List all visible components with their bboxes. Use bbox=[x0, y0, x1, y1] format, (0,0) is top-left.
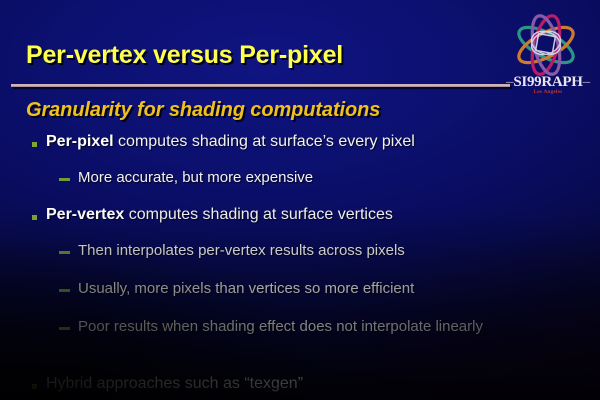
logo-city-label: Los Angeles bbox=[502, 90, 594, 95]
wordmark-text: SI99RAPH bbox=[513, 74, 582, 90]
siggraph-rings-icon bbox=[506, 12, 586, 78]
bullet-dash-icon bbox=[59, 251, 70, 254]
bullet-rest: computes shading at surface’s every pixe… bbox=[114, 133, 415, 150]
bullet-text: Then interpolates per-vertex results acr… bbox=[58, 240, 405, 261]
bullet-rest: Hybrid approaches such as “texgen” bbox=[46, 375, 303, 392]
bullet-item: Hybrid approaches such as “texgen” bbox=[0, 374, 600, 400]
bullet-item: Per-pixel computes shading at surface’s … bbox=[0, 132, 600, 167]
presentation-slide: Per-vertex versus Per-pixel Granularity … bbox=[0, 0, 600, 400]
bullet-text: Hybrid approaches such as “texgen” bbox=[30, 374, 303, 394]
bullet-item: Usually, more pixels than vertices so mo… bbox=[0, 278, 600, 316]
bullet-item: Poor results when shading effect does no… bbox=[0, 316, 600, 374]
bullet-dot-icon bbox=[32, 215, 37, 220]
bullet-rest: Then interpolates per-vertex results acr… bbox=[78, 242, 405, 259]
page-title: Per-vertex versus Per-pixel bbox=[26, 41, 343, 70]
title-divider bbox=[11, 84, 510, 87]
bullet-item: More accurate, but more expensive bbox=[0, 167, 600, 205]
bullet-text: Per-pixel computes shading at surface’s … bbox=[30, 132, 415, 152]
bullet-text: Usually, more pixels than vertices so mo… bbox=[58, 278, 414, 299]
bullet-lead: Per-pixel bbox=[46, 133, 114, 150]
siggraph-logo: –SI99RAPH– Los Angeles bbox=[502, 12, 594, 104]
bullet-rest: Poor results when shading effect does no… bbox=[78, 318, 483, 335]
slide-body: Per-pixel computes shading at surface’s … bbox=[0, 132, 600, 400]
page-subtitle: Granularity for shading computations bbox=[26, 99, 380, 122]
bullet-rest: Usually, more pixels than vertices so mo… bbox=[78, 280, 414, 297]
bullet-dot-icon bbox=[32, 384, 37, 389]
bullet-text: Poor results when shading effect does no… bbox=[58, 316, 548, 337]
bullet-dash-icon bbox=[59, 327, 70, 330]
bullet-item: Per-vertex computes shading at surface v… bbox=[0, 205, 600, 240]
bullet-dash-icon bbox=[59, 289, 70, 292]
wordmark-dash-right: – bbox=[583, 74, 590, 90]
bullet-text: Per-vertex computes shading at surface v… bbox=[30, 205, 393, 225]
bullet-rest: More accurate, but more expensive bbox=[78, 169, 313, 186]
siggraph-wordmark: –SI99RAPH– bbox=[502, 74, 594, 91]
bullet-item: Then interpolates per-vertex results acr… bbox=[0, 240, 600, 278]
bullet-lead: Per-vertex bbox=[46, 206, 124, 223]
bullet-dot-icon bbox=[32, 142, 37, 147]
bullet-rest: computes shading at surface vertices bbox=[124, 206, 393, 223]
bullet-text: More accurate, but more expensive bbox=[58, 167, 313, 188]
bullet-dash-icon bbox=[59, 178, 70, 181]
